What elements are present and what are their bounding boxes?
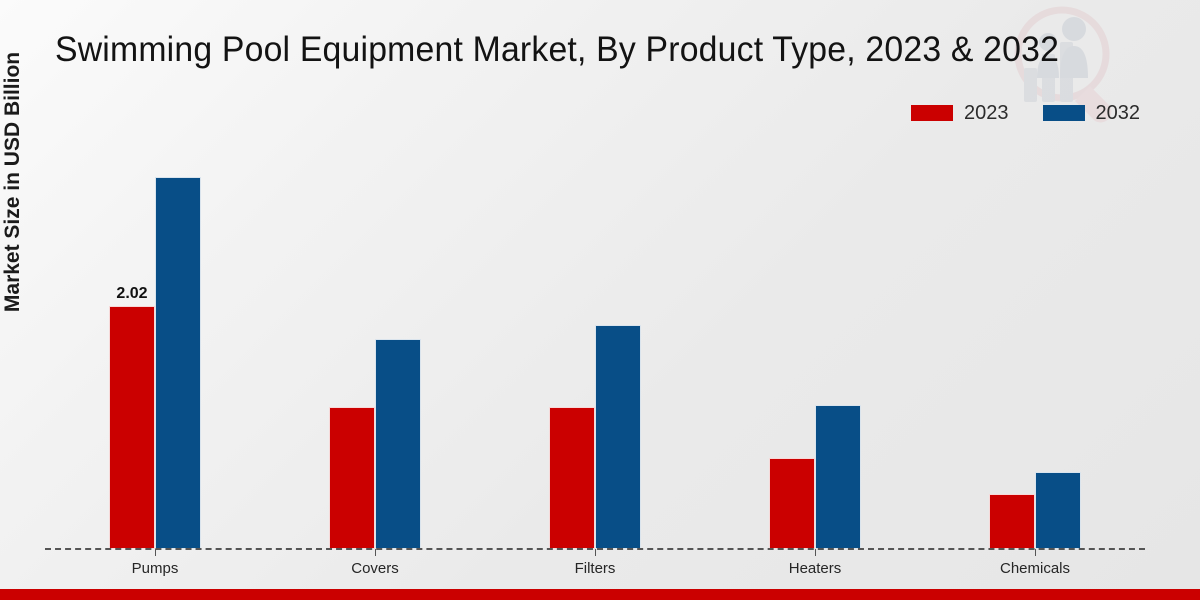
legend-item-2032[interactable]: 2032 xyxy=(1043,103,1141,123)
x-axis-tick xyxy=(375,549,376,556)
bar-group xyxy=(485,140,705,549)
x-axis-tick xyxy=(1035,549,1036,556)
bar-value-label: 2.02 xyxy=(116,285,147,303)
bottom-accent-band xyxy=(0,589,1200,600)
chart-legend: 2023 2032 xyxy=(911,103,1140,123)
bar-covers-2032[interactable] xyxy=(375,339,421,550)
bar-chemicals-2032[interactable] xyxy=(1035,472,1081,549)
bar-pumps-2032[interactable] xyxy=(155,177,201,549)
bar-heaters-2023[interactable] xyxy=(769,458,815,549)
plot-area: 2.02 xyxy=(45,140,1145,549)
bar-covers-2023[interactable] xyxy=(329,407,375,549)
bar-group: 2.02 xyxy=(45,140,265,549)
bar-chemicals-2023[interactable] xyxy=(989,494,1035,549)
bar-group xyxy=(705,140,925,549)
x-axis-label-chemicals: Chemicals xyxy=(935,560,1135,577)
x-axis-label-filters: Filters xyxy=(495,560,695,577)
chart-title: Swimming Pool Equipment Market, By Produ… xyxy=(55,30,1059,70)
bar-group xyxy=(925,140,1145,549)
y-axis-title: Market Size in USD Billion xyxy=(1,17,25,347)
bar-heaters-2032[interactable] xyxy=(815,405,861,549)
x-axis-tick xyxy=(815,549,816,556)
legend-label-2023: 2023 xyxy=(964,103,1009,123)
bar-group xyxy=(265,140,485,549)
bar-filters-2023[interactable] xyxy=(549,407,595,549)
x-axis-label-covers: Covers xyxy=(275,560,475,577)
bar-pumps-2023[interactable]: 2.02 xyxy=(109,306,155,549)
x-axis-label-heaters: Heaters xyxy=(715,560,915,577)
x-axis-label-pumps: Pumps xyxy=(55,560,255,577)
x-axis-tick xyxy=(155,549,156,556)
legend-item-2023[interactable]: 2023 xyxy=(911,103,1009,123)
chart-canvas: Swimming Pool Equipment Market, By Produ… xyxy=(0,0,1200,600)
bar-filters-2032[interactable] xyxy=(595,325,641,549)
legend-swatch-2023 xyxy=(911,105,953,121)
x-axis-tick xyxy=(595,549,596,556)
legend-label-2032: 2032 xyxy=(1096,103,1141,123)
legend-swatch-2032 xyxy=(1043,105,1085,121)
